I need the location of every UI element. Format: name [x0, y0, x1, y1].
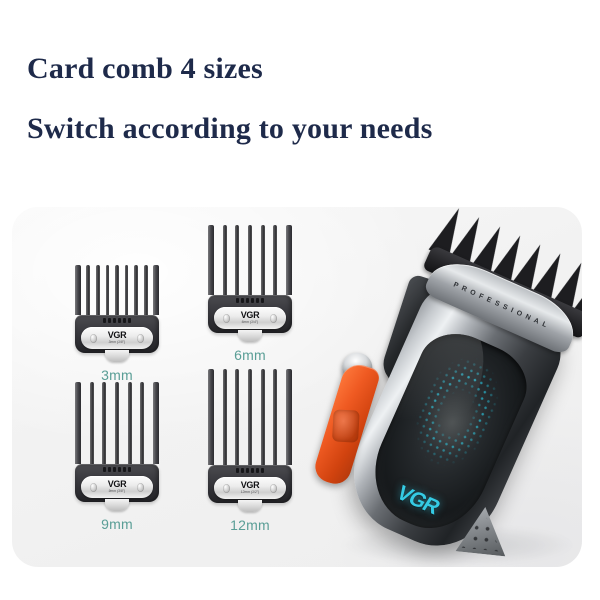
comb-clip-nub: [238, 330, 262, 342]
screw-icon: [137, 334, 144, 343]
comb-size-label: 3mm: [42, 367, 192, 383]
comb-illustration: VGR 3mm (1/8"): [42, 245, 192, 353]
comb-body: VGR 9mm (3/8"): [75, 464, 159, 502]
comb-body: VGR 3mm (1/8"): [75, 315, 159, 353]
comb-size-label: 9mm: [42, 516, 192, 532]
comb-model-label: 6mm (1/4"): [241, 321, 260, 324]
screw-icon: [90, 483, 97, 492]
hair-clipper: PROFESSIONAL VGR: [312, 215, 582, 567]
comb-slots: [75, 467, 159, 474]
product-panel: VGR 3mm (1/8") 3mm: [12, 207, 582, 567]
headline-block: Card comb 4 sizes Switch according to yo…: [27, 52, 587, 146]
headline-line-1: Card comb 4 sizes: [27, 52, 587, 86]
comb-brand-plate: VGR 9mm (3/8"): [81, 476, 153, 498]
comb-clip-nub: [105, 350, 129, 362]
screw-icon: [90, 334, 97, 343]
comb-graphic: VGR 3mm (1/8"): [75, 265, 159, 353]
comb-item-6mm: VGR 6mm (1/4") 6mm: [175, 225, 325, 363]
comb-model-label: 9mm (3/8"): [108, 490, 127, 493]
comb-illustration: VGR 9mm (3/8"): [42, 382, 192, 502]
comb-size-label: 12mm: [175, 517, 325, 533]
comb-illustration: VGR 6mm (1/4"): [175, 225, 325, 333]
clipper-grip-pad: [454, 503, 511, 558]
comb-brand-label: VGR: [108, 480, 127, 489]
screw-icon: [223, 314, 230, 323]
comb-brand-plate: VGR 6mm (1/4"): [214, 307, 286, 329]
comb-clip-nub: [105, 499, 129, 511]
headline-line-2: Switch according to your needs: [27, 112, 587, 146]
comb-size-label: 6mm: [175, 347, 325, 363]
comb-item-9mm: VGR 9mm (3/8") 9mm: [42, 382, 192, 532]
comb-teeth: [208, 225, 292, 295]
comb-graphic: VGR 9mm (3/8"): [75, 382, 159, 502]
comb-brand-plate: VGR 3mm (1/8"): [81, 327, 153, 349]
comb-graphic: VGR 6mm (1/4"): [208, 225, 292, 333]
comb-model-label: 3mm (1/8"): [108, 341, 127, 344]
screw-icon: [223, 484, 230, 493]
comb-grid: VGR 3mm (1/8") 3mm: [12, 207, 332, 567]
comb-clip-nub: [238, 500, 262, 512]
comb-teeth: [75, 382, 159, 464]
comb-brand-label: VGR: [241, 481, 260, 490]
comb-brand-label: VGR: [108, 331, 127, 340]
lever-emboss: [332, 410, 360, 443]
comb-item-3mm: VGR 3mm (1/8") 3mm: [42, 245, 192, 383]
comb-slots: [75, 318, 159, 325]
comb-slots: [208, 298, 292, 305]
product-image-canvas: Card comb 4 sizes Switch according to yo…: [0, 0, 600, 600]
comb-brand-label: VGR: [241, 311, 260, 320]
screw-icon: [137, 483, 144, 492]
comb-teeth: [75, 265, 159, 315]
comb-body: VGR 6mm (1/4"): [208, 295, 292, 333]
screw-icon: [270, 314, 277, 323]
